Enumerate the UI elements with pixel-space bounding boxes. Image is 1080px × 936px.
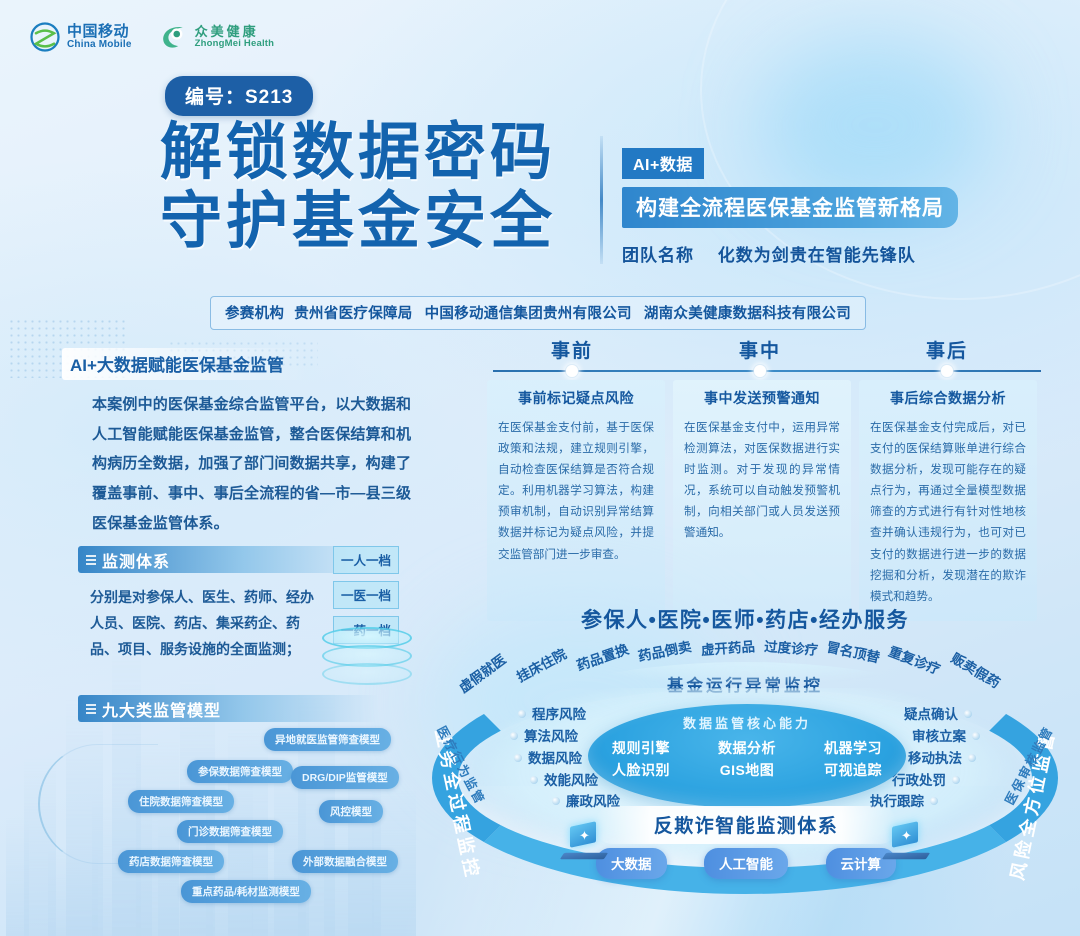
bullet-icon <box>514 754 522 762</box>
bullet-icon <box>552 797 560 805</box>
timeline-card-before: 事前标记疑点风险 在医保基金支付前，基于医保政策和法规，建立规则引擎，自动检查医… <box>487 380 665 621</box>
tag-framework: 构建全流程医保基金监管新格局 <box>622 187 958 228</box>
team-name: 化数为剑贵在智能先锋队 <box>718 246 916 265</box>
title-divider <box>600 136 603 264</box>
org-item-2: 中国移动通信集团贵州有限公司 <box>425 306 632 322</box>
subtitle-block: AI+数据 构建全流程医保基金监管新格局 团队名称 化数为剑贵在智能先锋队 <box>622 148 958 266</box>
intro-heading: AI+大数据赋能医保基金监管 <box>62 348 308 380</box>
title-line-1: 解锁数据密码 <box>160 118 556 187</box>
timeline-heads: 事前 事中 事后 <box>487 336 1047 366</box>
menu-bars-icon <box>86 553 96 567</box>
timeline-card-after: 事后综合数据分析 在医保基金支付完成后，对已支付的医保结算账单进行综合数据分析，… <box>859 380 1037 621</box>
core-item-1: 规则引擎 <box>588 738 694 758</box>
model-pill-6[interactable]: 门诊数据筛查模型 <box>177 820 283 843</box>
anti-fraud-banner: 反欺诈智能监测体系 <box>596 806 896 844</box>
logo-china-mobile: 中国移动 China Mobile <box>30 22 132 52</box>
tech-pill-ai[interactable]: 人工智能 <box>704 848 788 879</box>
ring-top-title: 参保人•医院•医师•药店•经办服务 <box>420 604 1070 634</box>
logo-label-cn: 中国移动 <box>67 24 132 40</box>
timeline-sub-1: 事前标记疑点风险 <box>498 388 654 408</box>
core-item-6: 可视追踪 <box>800 760 906 780</box>
timeline-node-1 <box>566 365 578 377</box>
timeline-head-3: 事后 <box>887 336 1007 363</box>
poster-root: 中国移动 China Mobile 众美健康 ZhongMei Health 编… <box>0 0 1080 936</box>
logo-label-cn-2: 众美健康 <box>195 25 275 39</box>
intro-paragraph: 本案例中的医保基金综合监管平台，以大数据和人工智能赋能医保基金监管，整合医保结算… <box>92 390 417 538</box>
core-item-3: 机器学习 <box>800 738 906 758</box>
org-label: 参赛机构 <box>225 306 284 322</box>
organizations-bar: 参赛机构贵州省医疗保障局中国移动通信集团贵州有限公司湖南众美健康数据科技有限公司 <box>210 296 866 330</box>
logo-label-en-2: ZhongMei Health <box>195 39 275 49</box>
timeline-section: 事前 事中 事后 事前标记疑点风险 在医保基金支付前，基于医保政策和法规，建立规… <box>487 336 1047 596</box>
core-item-5: GIS地图 <box>694 760 800 780</box>
timeline-card-during: 事中发送预警通知 在医保基金支付中，运用异常检测算法，对医保数据进行实时监测。对… <box>673 380 851 621</box>
bullet-icon <box>964 710 972 718</box>
timeline-head-2: 事中 <box>700 336 820 363</box>
models-title: 九大类监管模型 <box>102 697 221 721</box>
model-pill-5[interactable]: 风控模型 <box>319 800 383 823</box>
org-item-1: 贵州省医疗保障局 <box>294 306 412 322</box>
core-title: 数据监管核心能力 <box>588 713 906 732</box>
main-title: 解锁数据密码 守护基金安全 <box>160 118 556 257</box>
zhongmei-leaf-icon <box>158 22 188 52</box>
archive-tag-2: 一医一档 <box>333 581 399 609</box>
entry-number-badge: 编号：S213 <box>165 76 313 116</box>
menu-bars-icon-2 <box>86 702 96 716</box>
bullet-icon <box>968 754 976 762</box>
team-line: 团队名称 化数为剑贵在智能先锋队 <box>622 241 958 266</box>
logo-bar: 中国移动 China Mobile 众美健康 ZhongMei Health <box>30 22 274 52</box>
curved-word-4: 药品倒卖 <box>637 639 693 666</box>
core-capability-grid: 规则引擎 数据分析 机器学习 人脸识别 GIS地图 可视追踪 <box>588 738 906 780</box>
tech-pill-row: 大数据 人工智能 云计算 <box>596 848 896 879</box>
model-pill-9[interactable]: 重点药品/耗材监测模型 <box>181 880 311 903</box>
models-pill-cloud: 异地就医监管筛查模型 参保数据筛查模型 DRG/DIP监管模型 住院数据筛查模型… <box>60 728 410 888</box>
model-pill-7[interactable]: 药店数据筛查模型 <box>118 850 224 873</box>
core-item-2: 数据分析 <box>694 738 800 758</box>
bullet-icon <box>530 776 538 784</box>
laptop-icon-left: ✦ <box>562 824 606 864</box>
org-item-3: 湖南众美健康数据科技有限公司 <box>644 306 851 322</box>
logo-zhongmei-health: 众美健康 ZhongMei Health <box>158 22 275 52</box>
model-pill-4[interactable]: 住院数据筛查模型 <box>128 790 234 813</box>
timeline-body-1: 在医保基金支付前，基于医保政策和法规，建立规则引擎，自动检查医保结算是否符合规定… <box>498 417 654 565</box>
core-capabilities-oval: 数据监管核心能力 规则引擎 数据分析 机器学习 人脸识别 GIS地图 可视追踪 <box>588 704 906 808</box>
monitor-system-body: 分别是对参保人、医生、药师、经办人员、医院、药店、集采药企、药品、项目、服务设施… <box>90 585 326 663</box>
bullet-icon <box>930 797 938 805</box>
curved-word-6: 过度诊疗 <box>763 639 818 660</box>
curved-word-5: 虚开药品 <box>700 639 755 660</box>
model-pill-8[interactable]: 外部数据融合模型 <box>292 850 398 873</box>
bullet-icon <box>952 776 960 784</box>
bullet-icon <box>518 710 526 718</box>
bullet-icon <box>510 732 518 740</box>
china-mobile-icon <box>30 22 60 52</box>
tag-ai-data: AI+数据 <box>622 148 704 179</box>
logo-label-en: China Mobile <box>67 40 132 51</box>
monitor-system-title: 监测体系 <box>102 548 170 572</box>
timeline-body-2: 在医保基金支付中，运用异常检测算法，对医保数据进行实时监测。对于发现的异常情况，… <box>684 417 840 544</box>
timeline-head-1: 事前 <box>512 336 632 363</box>
disc-stack-decoration <box>322 627 412 693</box>
ring-diagram: 参保人•医院•医师•药店•经办服务 虚假就医 挂床住院 药品置换 药品倒卖 虚开… <box>420 596 1070 896</box>
timeline-node-3 <box>941 365 953 377</box>
models-heading: 九大类监管模型 <box>78 695 378 722</box>
timeline-sub-3: 事后综合数据分析 <box>870 388 1026 408</box>
model-pill-3[interactable]: DRG/DIP监管模型 <box>291 766 399 789</box>
laptop-icon-right: ✦ <box>884 824 928 864</box>
model-pill-2[interactable]: 参保数据筛查模型 <box>187 760 293 783</box>
model-pill-1[interactable]: 异地就医监管筛查模型 <box>264 728 391 751</box>
timeline-node-2 <box>754 365 766 377</box>
bullet-icon <box>972 732 980 740</box>
archive-tag-1: 一人一档 <box>333 546 399 574</box>
timeline-body-3: 在医保基金支付完成后，对已支付的医保结算账单进行综合数据分析，发现可能存在的疑点… <box>870 417 1026 607</box>
title-line-2: 守护基金安全 <box>160 187 556 256</box>
curved-word-7: 冒名顶替 <box>825 640 881 668</box>
timeline-sub-2: 事中发送预警通知 <box>684 388 840 408</box>
team-label: 团队名称 <box>622 246 694 265</box>
timeline-columns: 事前标记疑点风险 在医保基金支付前，基于医保政策和法规，建立规则引擎，自动检查医… <box>487 380 1047 621</box>
core-item-4: 人脸识别 <box>588 760 694 780</box>
